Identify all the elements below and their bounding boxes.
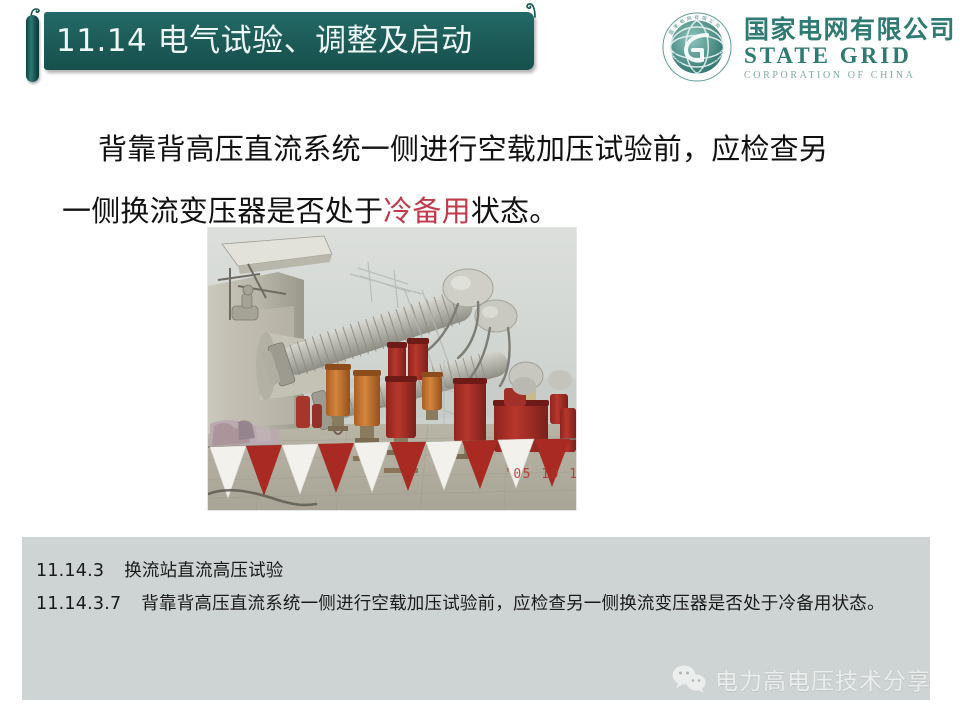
wechat-icon bbox=[672, 664, 706, 694]
body-text: 背靠背高压直流系统一侧进行空载加压试验前，应检查另 一侧换流变压器是否处于冷备用… bbox=[62, 118, 902, 242]
state-grid-logo: 国 家 电 网 有 限 公 司 STATE GRID CORPORATION O… bbox=[660, 8, 948, 86]
title-banner: 11.14 电气试验、调整及启动 bbox=[26, 12, 534, 70]
body-line-1: 背靠背高压直流系统一侧进行空载加压试验前，应检查另 bbox=[62, 118, 902, 180]
note-line-1-text: 换流站直流高压试验 bbox=[124, 561, 283, 581]
note-line-1: 11.14.3换流站直流高压试验 bbox=[36, 555, 908, 588]
body-line-1-text: 背靠背高压直流系统一侧进行空载加压试验前，应检查另 bbox=[98, 132, 828, 166]
scroll-curl-right-icon bbox=[523, 2, 539, 18]
brand-name-cn: 国家电网有限公司 bbox=[744, 17, 956, 43]
body-highlight-term: 冷备用 bbox=[383, 194, 471, 228]
wechat-watermark: 电力高电压技术分享 bbox=[672, 658, 934, 700]
page-title: 11.14 电气试验、调整及启动 bbox=[56, 13, 524, 71]
scroll-roll-edge-icon bbox=[26, 15, 39, 82]
body-line-2-after: 状态。 bbox=[471, 194, 559, 228]
note-line-2-number: 11.14.3.7 bbox=[36, 594, 121, 614]
body-line-2-before: 一侧换流变压器是否处于 bbox=[62, 194, 383, 228]
note-line-2: 11.14.3.7背靠背高压直流系统一侧进行空载加压试验前，应检查另一侧换流变压… bbox=[36, 588, 908, 621]
state-grid-globe-seal-icon: 国 家 电 网 有 限 公 司 STATE GRID CORPORATION O… bbox=[660, 10, 734, 84]
brand-wordmark: 国家电网有限公司 STATE GRID CORPORATION OF CHINA bbox=[744, 13, 956, 81]
note-line-2-text: 背靠背高压直流系统一侧进行空载加压试验前，应检查另一侧换流变压器是否处于冷备用状… bbox=[141, 594, 884, 614]
watermark-label: 电力高电压技术分享 bbox=[715, 662, 931, 696]
site-photo-canvas: '05 10 16 bbox=[208, 228, 576, 510]
note-line-1-number: 11.14.3 bbox=[36, 561, 104, 581]
site-photo: '05 10 16 bbox=[208, 228, 576, 510]
slide-canvas: 11.14 电气试验、调整及启动 bbox=[0, 0, 960, 720]
photo-date-stamp: '05 10 16 bbox=[504, 467, 576, 482]
brand-name-en: STATE GRID bbox=[744, 44, 956, 68]
brand-subtitle-en: CORPORATION OF CHINA bbox=[744, 70, 956, 81]
